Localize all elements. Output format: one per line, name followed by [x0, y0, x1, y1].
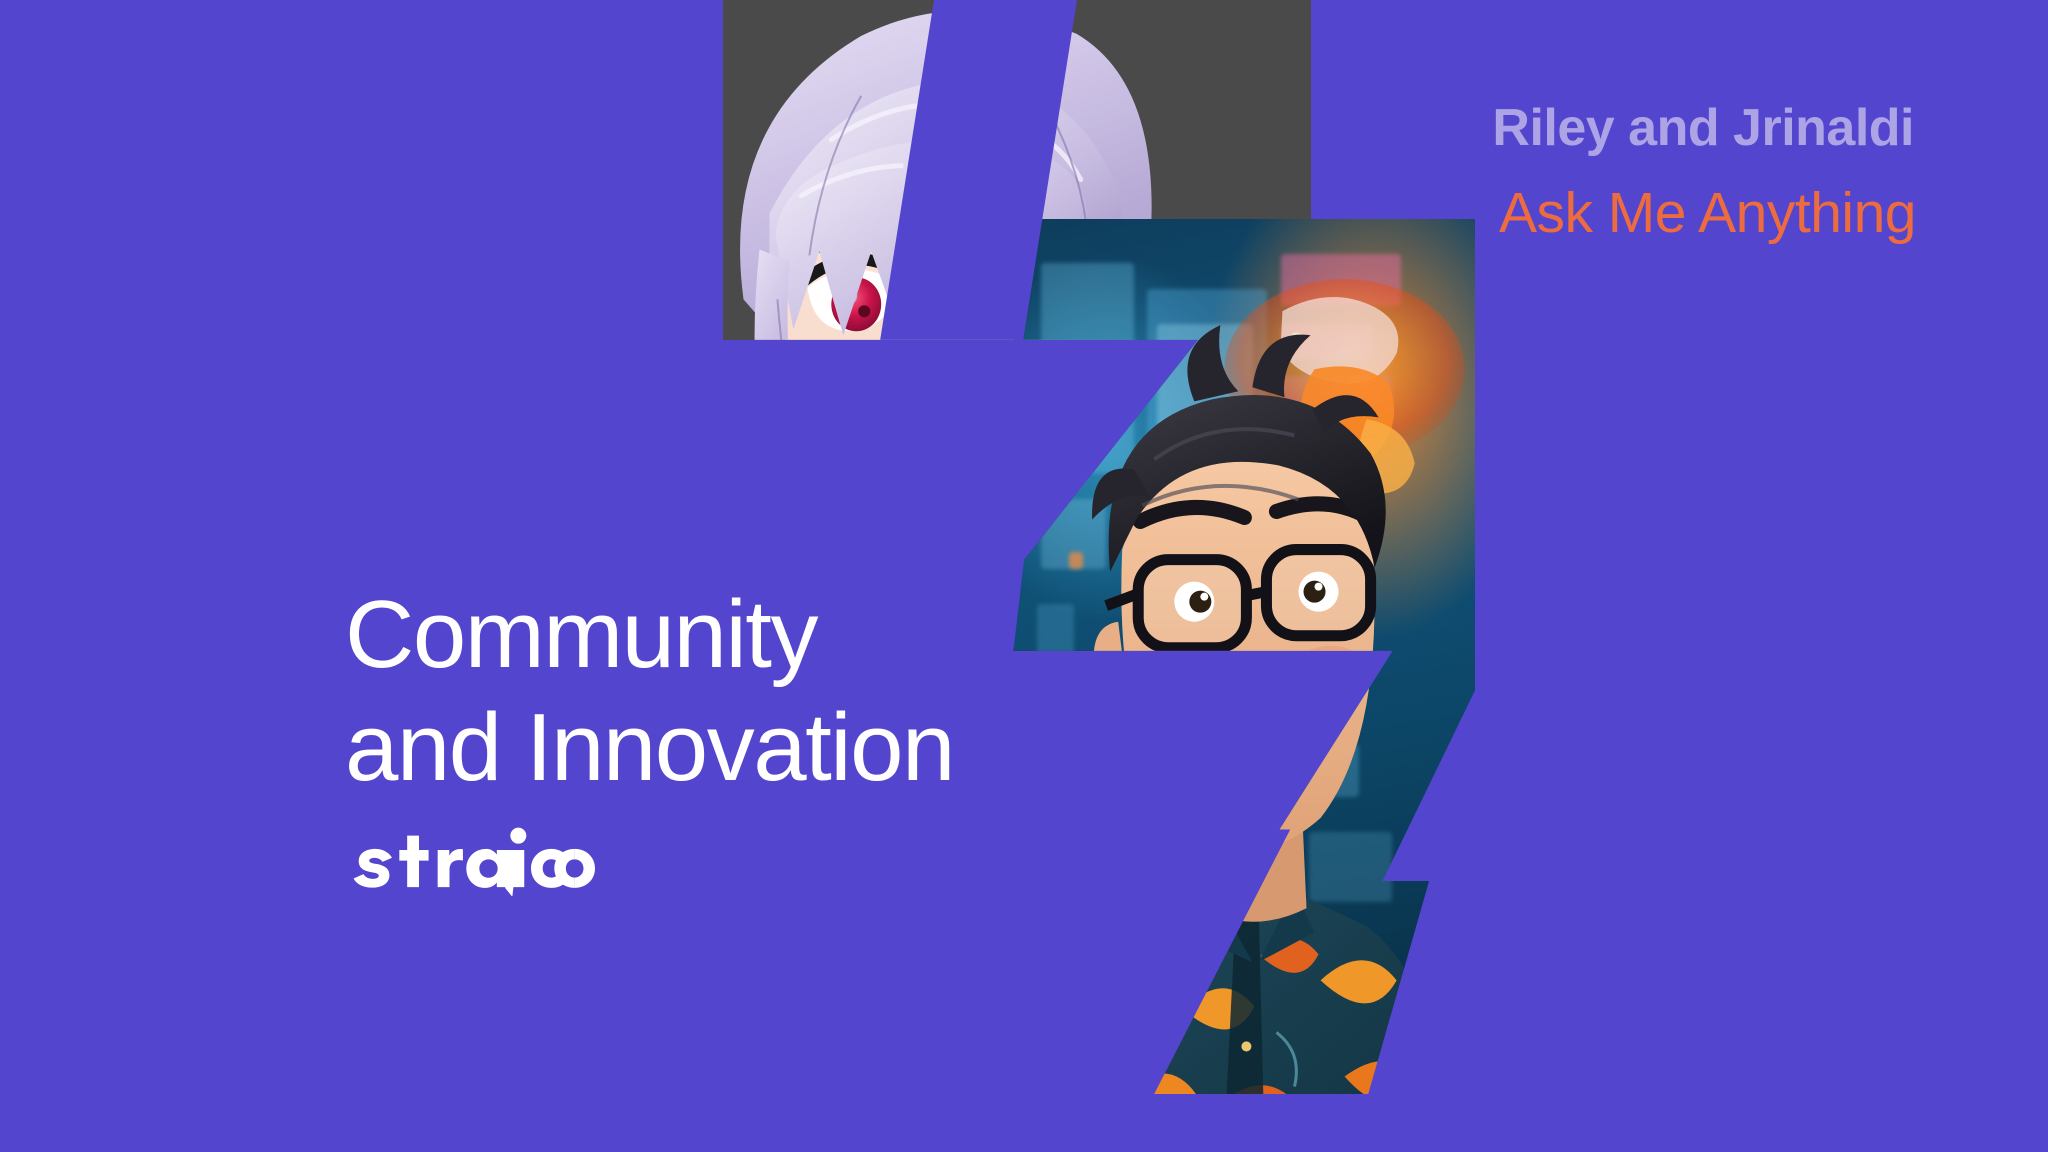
session-type-label: Ask Me Anything	[1499, 180, 1916, 246]
headline-line-2: and Innovation	[345, 691, 954, 804]
speakers-label: Riley and Jrinaldi	[1492, 98, 1914, 158]
headline-line-1: Community	[345, 581, 817, 688]
event-banner: Riley and Jrinaldi Ask Me Anything Commu…	[0, 0, 2048, 1152]
page-title: Community and Innovation	[345, 578, 954, 805]
straico-logo	[345, 826, 595, 896]
bolt-lower-right-field	[1352, 835, 2048, 1152]
